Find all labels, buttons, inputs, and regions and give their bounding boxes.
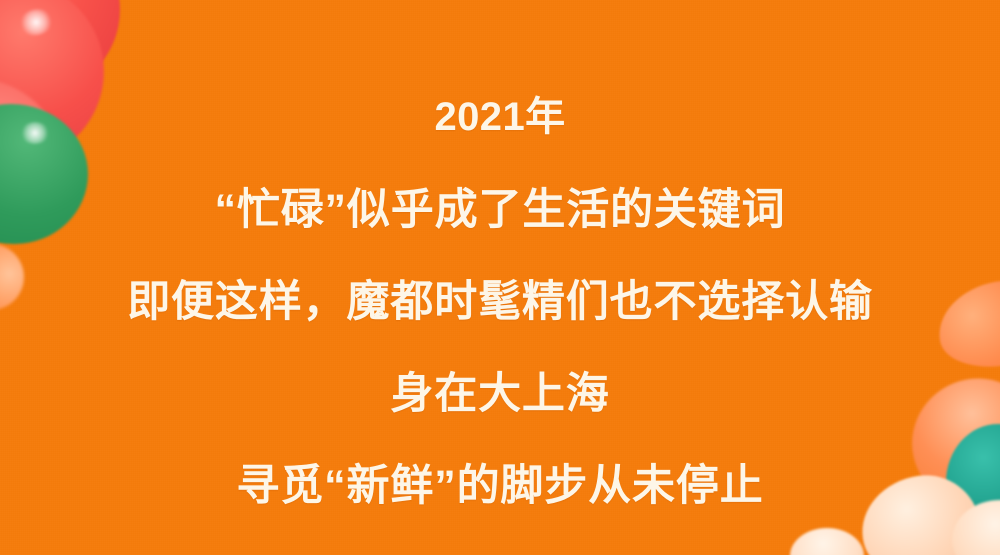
poster-line-shanghai: 身在大上海 [0, 366, 1000, 422]
poster-line-busy-keyword: “忙碌”似乎成了生活的关键词 [0, 182, 1000, 238]
poster-canvas: 2021年 “忙碌”似乎成了生活的关键词 即便这样，魔都时髦精们也不选择认输 身… [0, 0, 1000, 555]
balloon-cream-bottom-center-icon [790, 528, 864, 555]
poster-line-seeking-fresh: 寻觅“新鲜”的脚步从未停止 [0, 458, 1000, 514]
poster-line-fashionistas: 即便这样，魔都时髦精们也不选择认输 [0, 274, 1000, 330]
balloon-highlight-icon [17, 6, 56, 39]
balloon-red-top-left-icon [0, 0, 120, 97]
poster-line-year: 2021年 [0, 92, 1000, 142]
poster-text-block: 2021年 “忙碌”似乎成了生活的关键词 即便这样，魔都时髦精们也不选择认输 身… [0, 92, 1000, 514]
